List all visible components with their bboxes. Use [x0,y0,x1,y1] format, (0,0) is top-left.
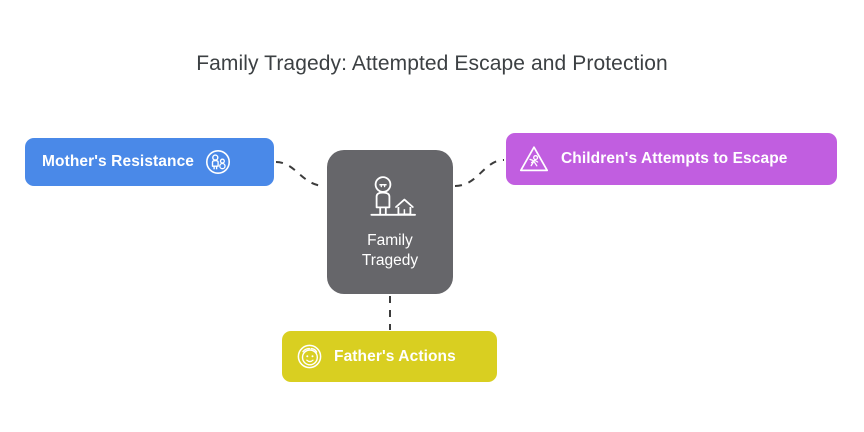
face-circle-icon [295,342,324,371]
node-mothers-resistance[interactable]: Mother's Resistance [25,138,274,186]
connector-center-to-children [455,160,504,186]
node-childrens-attempts[interactable]: Children's Attempts to Escape [506,133,837,185]
running-child-warning-triangle-icon [518,144,550,174]
connector-center-to-mother [276,162,325,186]
person-with-house-icon [362,174,418,222]
page-title: Family Tragedy: Attempted Escape and Pro… [0,52,864,76]
mother-and-child-circle-icon [205,149,231,175]
node-fathers-actions-label: Father's Actions [334,348,456,366]
node-fathers-actions[interactable]: Father's Actions [282,331,497,382]
node-childrens-attempts-label: Children's Attempts to Escape [561,150,788,168]
node-family-tragedy-label: Family Tragedy [362,231,418,271]
node-mothers-resistance-label: Mother's Resistance [42,153,194,171]
node-family-tragedy[interactable]: Family Tragedy [327,150,453,294]
mindmap-diagram: Family Tragedy: Attempted Escape and Pro… [0,0,864,432]
